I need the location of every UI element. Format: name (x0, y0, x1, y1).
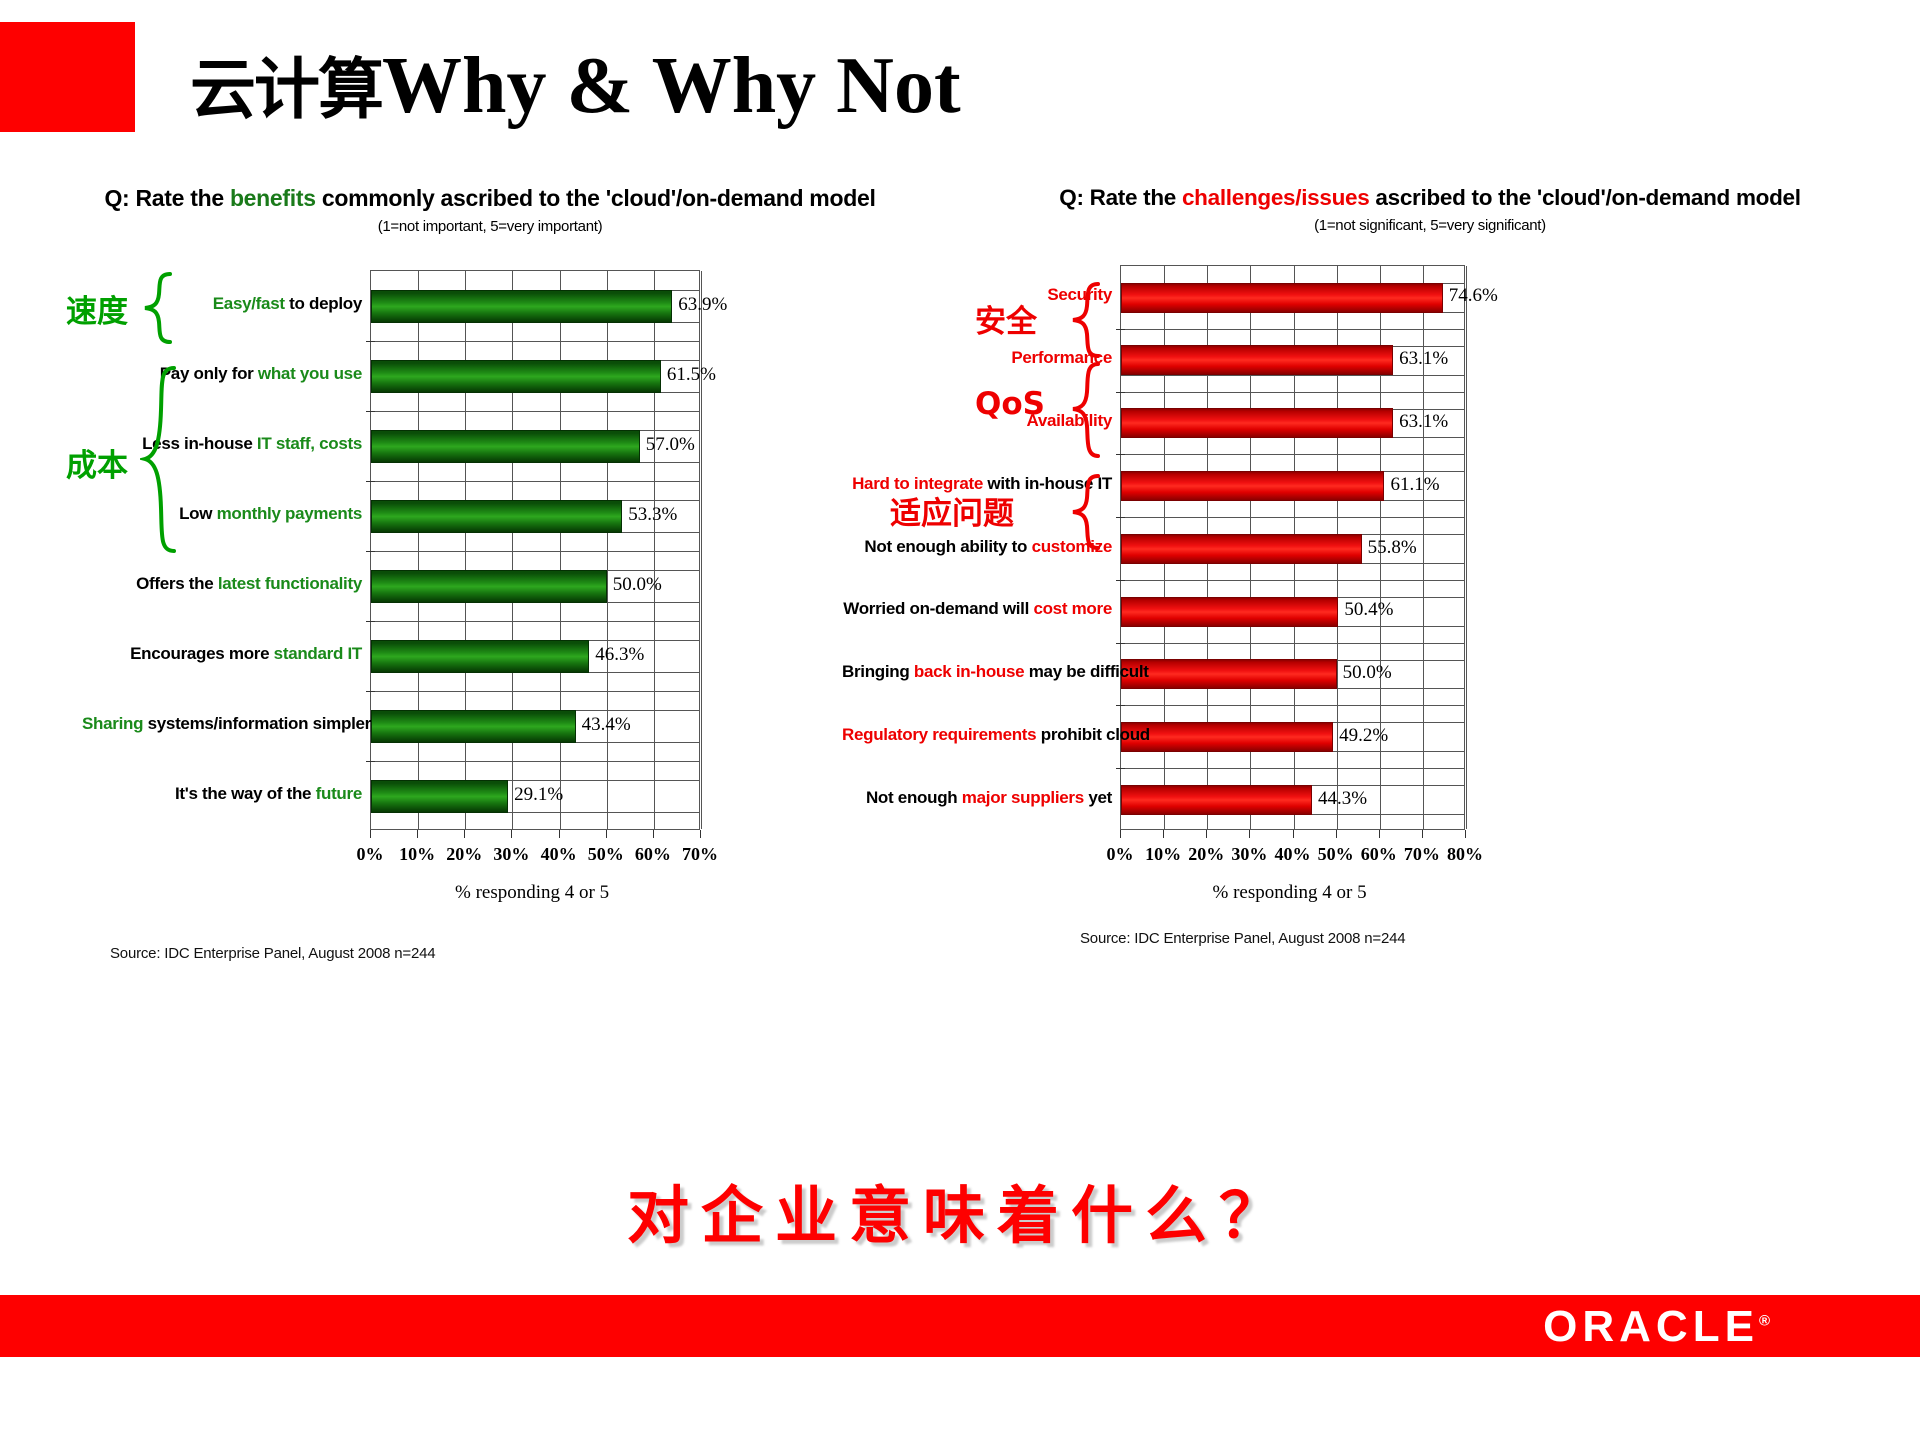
benefits-source-note: Source: IDC Enterprise Panel, August 200… (110, 945, 435, 962)
x-axis-tickmark (606, 830, 607, 838)
x-axis-tickmark (464, 830, 465, 838)
gridline-horizontal (1121, 454, 1464, 455)
annotation-security-brace (1068, 282, 1108, 358)
category-label-segment: future (316, 784, 362, 803)
x-axis-tickmark (653, 830, 654, 838)
gridline-horizontal (1121, 375, 1464, 376)
benefits-chart-subtitle: (1=not important, 5=very important) (80, 218, 900, 235)
category-label-segment: Regulatory requirements (842, 725, 1036, 744)
slide: 云计算Why & Why Not Q: Rate the benefits co… (0, 0, 1920, 1440)
bar (371, 360, 661, 393)
bar-value-label: 63.1% (1399, 411, 1448, 433)
category-label-segment: systems/information simpler (143, 714, 371, 733)
plot-area: 74.6%63.1%63.1%61.1%55.8%50.4%50.0%49.2%… (1120, 265, 1465, 830)
axis-tickmark (366, 341, 375, 342)
x-axis-tickmark (370, 830, 371, 838)
category-label-segment: yet (1084, 788, 1112, 807)
annotation-cost-label: 成本 (66, 440, 128, 485)
category-label: Low monthly payments (82, 504, 362, 524)
bar-value-label: 74.6% (1449, 285, 1498, 307)
title-segment: commonly ascribed to the 'cloud'/on-dema… (316, 185, 876, 211)
bar (1121, 534, 1362, 564)
axis-tickmark (1116, 705, 1125, 706)
category-label-segment: IT staff, costs (257, 434, 362, 453)
x-axis-tickmark (700, 830, 701, 838)
bar-value-label: 49.2% (1339, 725, 1388, 747)
category-label-segment: Worried on-demand will (843, 599, 1033, 618)
category-label: Sharing systems/information simpler (82, 714, 362, 734)
category-label-segment: Offers the (136, 574, 218, 593)
gridline-horizontal (1121, 392, 1464, 393)
gridline-vertical (512, 271, 513, 829)
x-axis-tick-label: 50% (581, 844, 631, 865)
benefits-bar-chart: 63.9%61.5%57.0%53.3%50.0%46.3%43.4%29.1%… (370, 270, 700, 830)
bar-value-label: 44.3% (1318, 788, 1367, 810)
x-axis-tick-label: 10% (392, 844, 442, 865)
category-label-segment: cost more (1033, 599, 1112, 618)
benefits-chart-title: Q: Rate the benefits commonly ascribed t… (80, 185, 900, 212)
gridline-horizontal (371, 411, 699, 412)
challenges-chart-title: Q: Rate the challenges/issues ascribed t… (1015, 185, 1845, 211)
x-axis-tick-label: 70% (675, 844, 725, 865)
x-axis-tick-label: 30% (486, 844, 536, 865)
red-accent-square (0, 22, 135, 132)
bar (371, 500, 622, 533)
bar-value-label: 55.8% (1368, 537, 1417, 559)
category-label: Not enough major suppliers yet (842, 788, 1112, 808)
bar (371, 430, 640, 463)
registered-mark: ® (1759, 1312, 1770, 1329)
page-title-chinese: 云计算 (190, 51, 382, 128)
title-segment: Q: Rate the (104, 185, 229, 211)
page-title: 云计算Why & Why Not (190, 46, 961, 126)
plot-area: 63.9%61.5%57.0%53.3%50.0%46.3%43.4%29.1% (370, 270, 700, 830)
annotation-speed-brace (140, 272, 180, 344)
bar (1121, 345, 1393, 375)
bar-value-label: 43.4% (582, 714, 631, 736)
category-label-segment: prohibit cloud (1036, 725, 1150, 744)
x-axis-tickmark (1293, 830, 1294, 838)
bar-value-label: 50.0% (613, 574, 662, 596)
gridline-vertical (654, 271, 655, 829)
category-label-segment: back in-house (914, 662, 1024, 681)
gridline-horizontal (1121, 329, 1464, 330)
bar (1121, 283, 1443, 313)
category-label: Regulatory requirements prohibit cloud (842, 725, 1112, 745)
bar-value-label: 53.3% (628, 504, 677, 526)
gridline-horizontal (1121, 643, 1464, 644)
x-axis-tickmark (511, 830, 512, 838)
category-label-segment: major suppliers (962, 788, 1084, 807)
category-label-segment: Not enough (866, 788, 962, 807)
challenges-chart-subtitle: (1=not significant, 5=very significant) (1015, 217, 1845, 234)
bar (1121, 722, 1333, 752)
x-axis-tick-label: 80% (1440, 844, 1490, 865)
bar-value-label: 61.5% (667, 364, 716, 386)
x-axis-tick-label: 0% (345, 844, 395, 865)
category-label: Bringing back in-house may be difficult (842, 662, 1112, 682)
category-label: Encourages more standard IT (82, 644, 362, 664)
x-axis-tickmark (559, 830, 560, 838)
axis-tickmark (366, 621, 375, 622)
axis-tickmark (1116, 580, 1125, 581)
annotation-adaptation-label: 适应问题 (890, 488, 1014, 533)
axis-tickmark (366, 481, 375, 482)
x-axis-tickmark (1120, 830, 1121, 838)
page-title-english: Why & Why Not (382, 42, 961, 130)
annotation-qos-brace (1068, 362, 1108, 458)
benefits-chart-panel: Q: Rate the benefits commonly ascribed t… (80, 185, 900, 1185)
gridline-vertical (701, 271, 702, 829)
axis-tickmark (1116, 329, 1125, 330)
title-segment: Q: Rate the (1059, 185, 1182, 210)
challenges-source-note: Source: IDC Enterprise Panel, August 200… (1080, 930, 1405, 947)
bar (1121, 659, 1337, 689)
gridline-horizontal (371, 761, 699, 762)
bar-value-label: 50.4% (1344, 599, 1393, 621)
bar-value-label: 46.3% (595, 644, 644, 666)
title-segment: challenges/issues (1182, 185, 1370, 210)
title-segment: ascribed to the 'cloud'/on-demand model (1369, 185, 1800, 210)
gridline-horizontal (371, 551, 699, 552)
category-label-segment: may be difficult (1024, 662, 1148, 681)
gridline-vertical (465, 271, 466, 829)
axis-tickmark (366, 761, 375, 762)
bar (371, 570, 607, 603)
gridline-horizontal (1121, 580, 1464, 581)
gridline-horizontal (371, 481, 699, 482)
axis-tickmark (1116, 643, 1125, 644)
category-label-segment: Bringing (842, 662, 914, 681)
x-axis-tickmark (1249, 830, 1250, 838)
axis-tickmark (1116, 392, 1125, 393)
bar (371, 640, 589, 673)
bar (371, 710, 576, 743)
gridline-vertical (560, 271, 561, 829)
x-axis-tickmark (1163, 830, 1164, 838)
bar-value-label: 29.1% (514, 784, 563, 806)
oracle-wordmark: ORACLE (1543, 1302, 1759, 1351)
bar-value-label: 61.1% (1390, 474, 1439, 496)
category-label-segment: It's the way of the (175, 784, 316, 803)
category-label-segment: latest functionality (218, 574, 362, 593)
bar (1121, 785, 1312, 815)
category-label-segment: Sharing (82, 714, 143, 733)
category-label: It's the way of the future (82, 784, 362, 804)
axis-tickmark (366, 691, 375, 692)
bar (1121, 471, 1384, 501)
x-axis-tick-label: 40% (534, 844, 584, 865)
axis-tickmark (366, 551, 375, 552)
axis-tickmark (1116, 768, 1125, 769)
x-axis-tickmark (1206, 830, 1207, 838)
bar (371, 780, 508, 813)
category-label: Offers the latest functionality (82, 574, 362, 594)
x-axis-tickmark (1336, 830, 1337, 838)
bottom-question: 对企业意味着什么？ (0, 1165, 1920, 1255)
gridline-vertical (418, 271, 419, 829)
bar-value-label: 57.0% (646, 434, 695, 456)
x-axis-tickmark (1379, 830, 1380, 838)
category-label: Worried on-demand will cost more (842, 599, 1112, 619)
axis-tickmark (1116, 454, 1125, 455)
x-axis-tick-label: 20% (439, 844, 489, 865)
x-axis-tickmark (417, 830, 418, 838)
annotation-adaptation-brace (1068, 474, 1108, 550)
bar-value-label: 63.1% (1399, 348, 1448, 370)
category-label-segment: Encourages more (130, 644, 274, 663)
category-label-segment: Low (179, 504, 217, 523)
category-label-segment: what you use (258, 364, 362, 383)
annotation-security-label: 安全 (975, 296, 1037, 341)
annotation-qos-label: QoS (975, 386, 1045, 422)
bar (1121, 597, 1338, 627)
bar (1121, 408, 1393, 438)
x-axis-tickmark (1465, 830, 1466, 838)
bar (371, 290, 672, 323)
category-label-segment: standard IT (274, 644, 362, 663)
x-axis-title: % responding 4 or 5 (455, 882, 609, 904)
gridline-horizontal (371, 341, 699, 342)
x-axis-tick-label: 60% (628, 844, 678, 865)
bar-value-label: 63.9% (678, 294, 727, 316)
category-label-segment: Easy/fast (213, 294, 285, 313)
challenges-chart-panel: Q: Rate the challenges/issues ascribed t… (1015, 185, 1845, 1185)
title-segment: benefits (230, 185, 316, 211)
gridline-vertical (607, 271, 608, 829)
annotation-cost-brace (140, 365, 184, 555)
category-label: Pay only for what you use (82, 364, 362, 384)
x-axis-title: % responding 4 or 5 (1213, 882, 1367, 904)
gridline-vertical (1466, 266, 1467, 829)
x-axis-tickmark (1422, 830, 1423, 838)
gridline-horizontal (371, 621, 699, 622)
axis-tickmark (1116, 517, 1125, 518)
gridline-horizontal (1121, 517, 1464, 518)
axis-tickmark (366, 411, 375, 412)
category-label-segment: monthly payments (217, 504, 362, 523)
bar-value-label: 50.0% (1343, 662, 1392, 684)
gridline-horizontal (1121, 768, 1464, 769)
gridline-horizontal (1121, 705, 1464, 706)
challenges-bar-chart: 74.6%63.1%63.1%61.1%55.8%50.4%50.0%49.2%… (1120, 265, 1465, 830)
category-label-segment: Not enough ability to (864, 537, 1031, 556)
gridline-horizontal (371, 691, 699, 692)
oracle-logo: ORACLE® (1543, 1302, 1770, 1352)
category-label-segment: to deploy (285, 294, 362, 313)
annotation-speed-label: 速度 (66, 286, 128, 331)
